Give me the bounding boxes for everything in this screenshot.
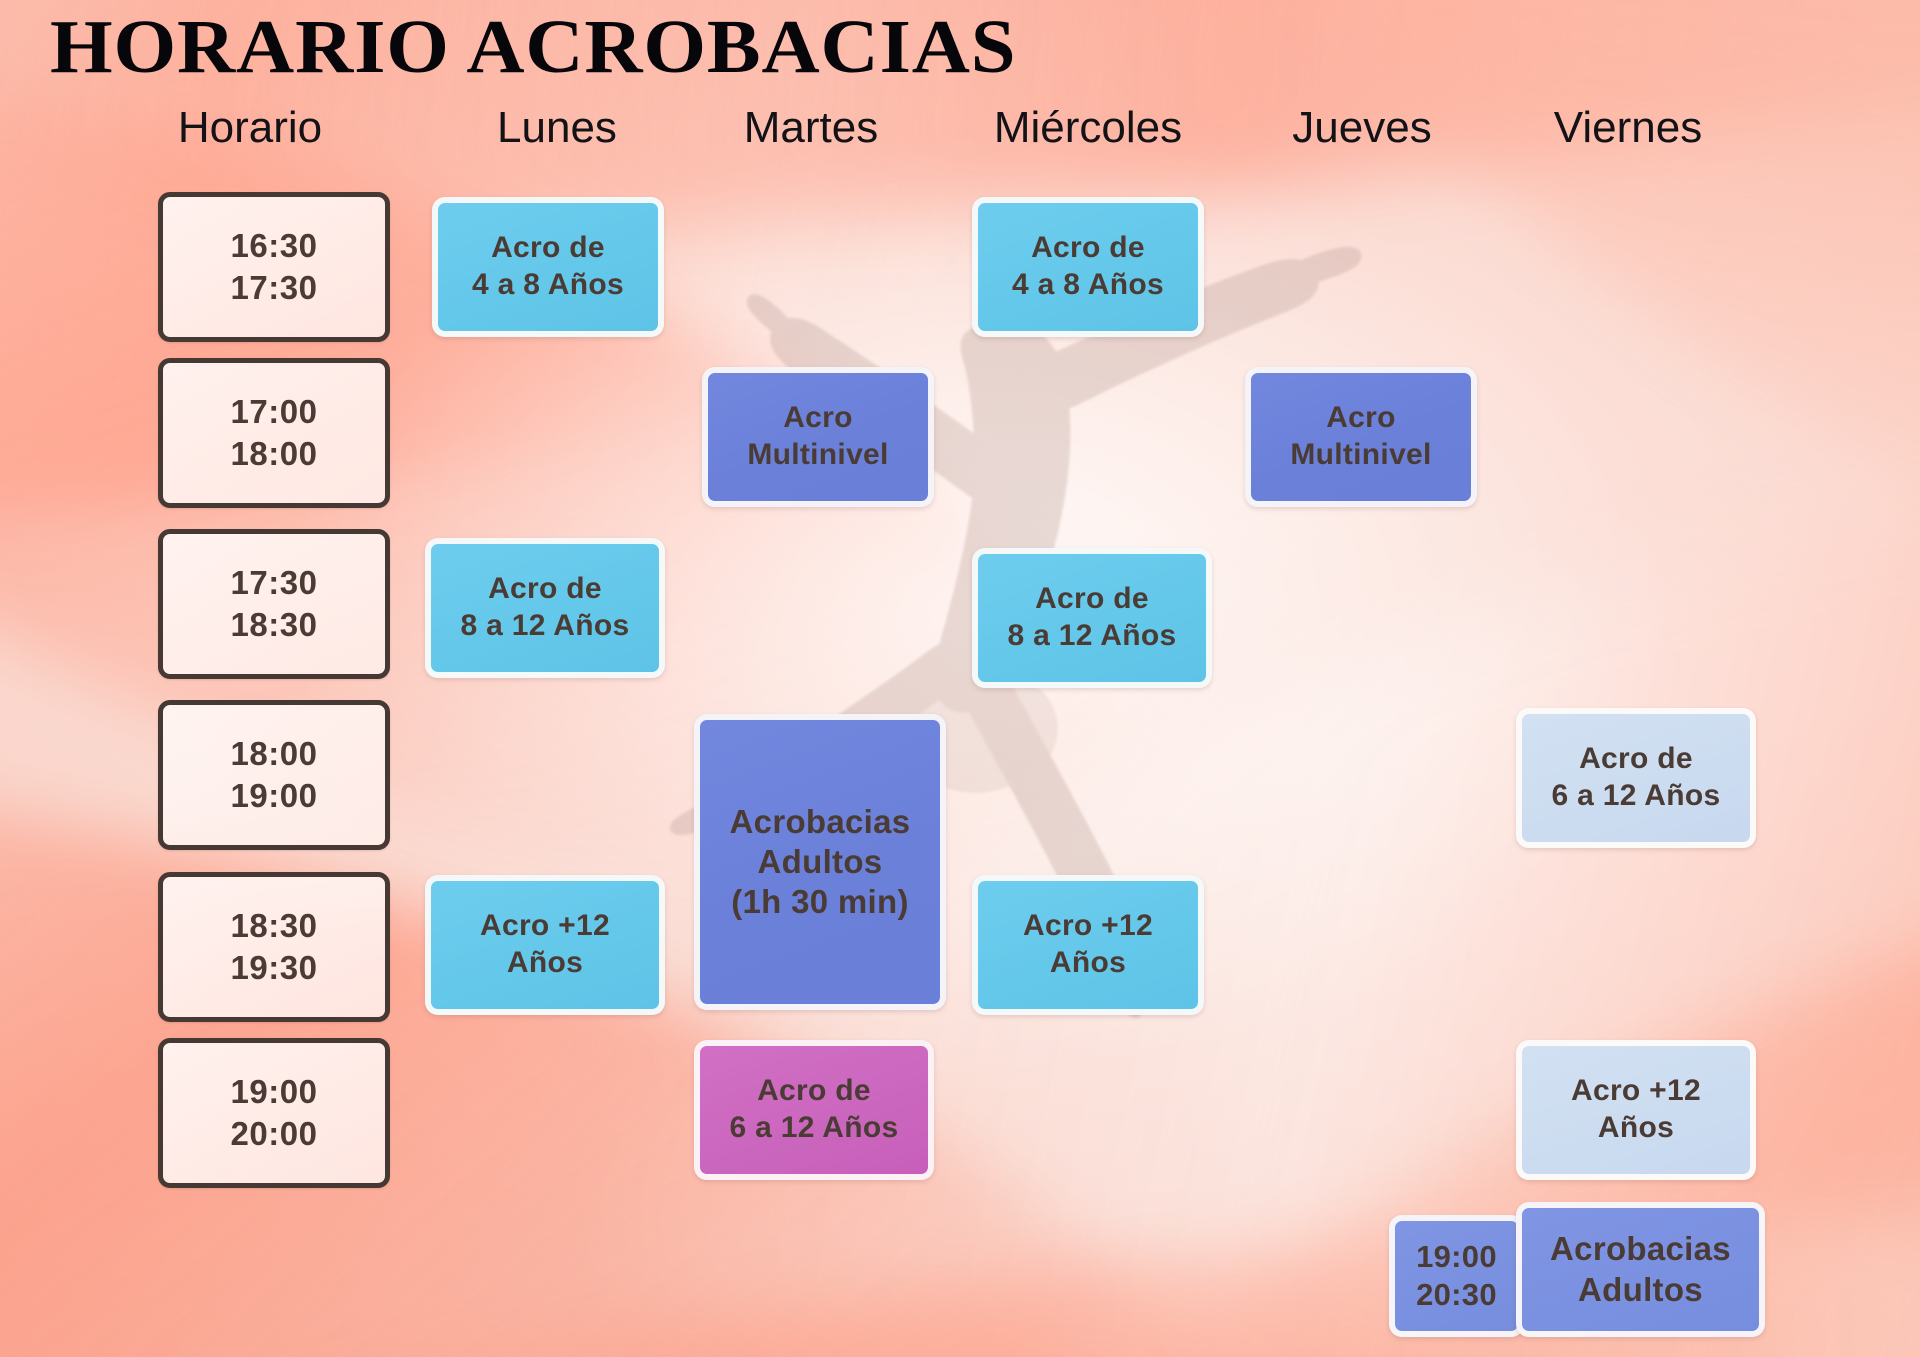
column-header-lunes: Lunes	[462, 103, 652, 153]
class-block-line: 4 a 8 Años	[472, 267, 624, 304]
class-block-line: 8 a 12 Años	[1008, 618, 1177, 655]
column-header-miercoles: Miércoles	[963, 103, 1213, 153]
time-end: 19:30	[231, 947, 318, 989]
class-block-line: Años	[1050, 945, 1126, 982]
time-slot-cell: 17:0018:00	[158, 358, 390, 508]
class-block-line: Adultos	[1578, 1270, 1703, 1310]
class-block-line: Adultos	[758, 842, 883, 882]
class-block-line: 19:00	[1416, 1238, 1497, 1276]
class-block[interactable]: AcroMultinivel	[702, 367, 934, 507]
class-block[interactable]: Acro +12Años	[1516, 1040, 1756, 1180]
time-start: 18:00	[231, 733, 318, 775]
class-block-line: Años	[507, 945, 583, 982]
class-block-line: Multinivel	[747, 437, 888, 474]
column-header-martes: Martes	[716, 103, 906, 153]
class-block[interactable]: 19:0020:30	[1389, 1215, 1524, 1337]
class-block-line: 4 a 8 Años	[1012, 267, 1164, 304]
time-end: 18:00	[231, 433, 318, 475]
time-end: 20:00	[231, 1113, 318, 1155]
class-block-line: Acro de	[488, 571, 602, 608]
class-block[interactable]: Acro de6 a 12 Años	[694, 1040, 934, 1180]
time-end: 18:30	[231, 604, 318, 646]
class-block-line: Acro	[1326, 400, 1396, 437]
class-block-line: Acrobacias	[1550, 1229, 1731, 1269]
class-block-line: 6 a 12 Años	[730, 1110, 899, 1147]
class-block[interactable]: Acro +12Años	[972, 875, 1204, 1015]
time-start: 17:30	[231, 562, 318, 604]
time-start: 19:00	[231, 1071, 318, 1113]
class-block-line: Acro de	[757, 1073, 871, 1110]
time-slot-cell: 19:0020:00	[158, 1038, 390, 1188]
time-start: 18:30	[231, 905, 318, 947]
class-block[interactable]: Acro de8 a 12 Años	[972, 548, 1212, 688]
page-title: HORARIO ACROBACIAS	[50, 4, 1016, 91]
class-block-line: Acro	[783, 400, 853, 437]
class-block[interactable]: AcrobaciasAdultos	[1516, 1202, 1765, 1337]
class-block[interactable]: Acro de4 a 8 Años	[972, 197, 1204, 337]
time-end: 19:00	[231, 775, 318, 817]
schedule-poster: HORARIO ACROBACIAS HorarioLunesMartesMié…	[0, 0, 1920, 1357]
time-start: 16:30	[231, 225, 318, 267]
class-block[interactable]: AcroMultinivel	[1245, 367, 1477, 507]
class-block-line: (1h 30 min)	[731, 882, 909, 922]
class-block[interactable]: Acro de6 a 12 Años	[1516, 708, 1756, 848]
class-block-line: 8 a 12 Años	[461, 608, 630, 645]
class-block-line: Acro +12	[1571, 1073, 1701, 1110]
class-block-line: Acro de	[1031, 230, 1145, 267]
class-block-line: 20:30	[1416, 1276, 1497, 1314]
class-block-line: 6 a 12 Años	[1552, 778, 1721, 815]
time-slot-cell: 18:0019:00	[158, 700, 390, 850]
class-block-line: Acro de	[1579, 741, 1693, 778]
class-block-line: Acro de	[491, 230, 605, 267]
time-slot-cell: 18:3019:30	[158, 872, 390, 1022]
time-slot-cell: 16:3017:30	[158, 192, 390, 342]
class-block[interactable]: Acro de8 a 12 Años	[425, 538, 665, 678]
class-block-line: Años	[1598, 1110, 1674, 1147]
class-block-line: Acro +12	[480, 908, 610, 945]
class-block-line: Acro de	[1035, 581, 1149, 618]
time-slot-cell: 17:3018:30	[158, 529, 390, 679]
class-block[interactable]: AcrobaciasAdultos(1h 30 min)	[694, 714, 946, 1010]
class-block-line: Acro +12	[1023, 908, 1153, 945]
class-block-line: Acrobacias	[730, 802, 911, 842]
column-header-horario: Horario	[150, 103, 350, 153]
column-header-jueves: Jueves	[1272, 103, 1452, 153]
column-header-viernes: Viernes	[1533, 103, 1723, 153]
class-block[interactable]: Acro de4 a 8 Años	[432, 197, 664, 337]
class-block-line: Multinivel	[1290, 437, 1431, 474]
class-block[interactable]: Acro +12Años	[425, 875, 665, 1015]
time-end: 17:30	[231, 267, 318, 309]
time-start: 17:00	[231, 391, 318, 433]
